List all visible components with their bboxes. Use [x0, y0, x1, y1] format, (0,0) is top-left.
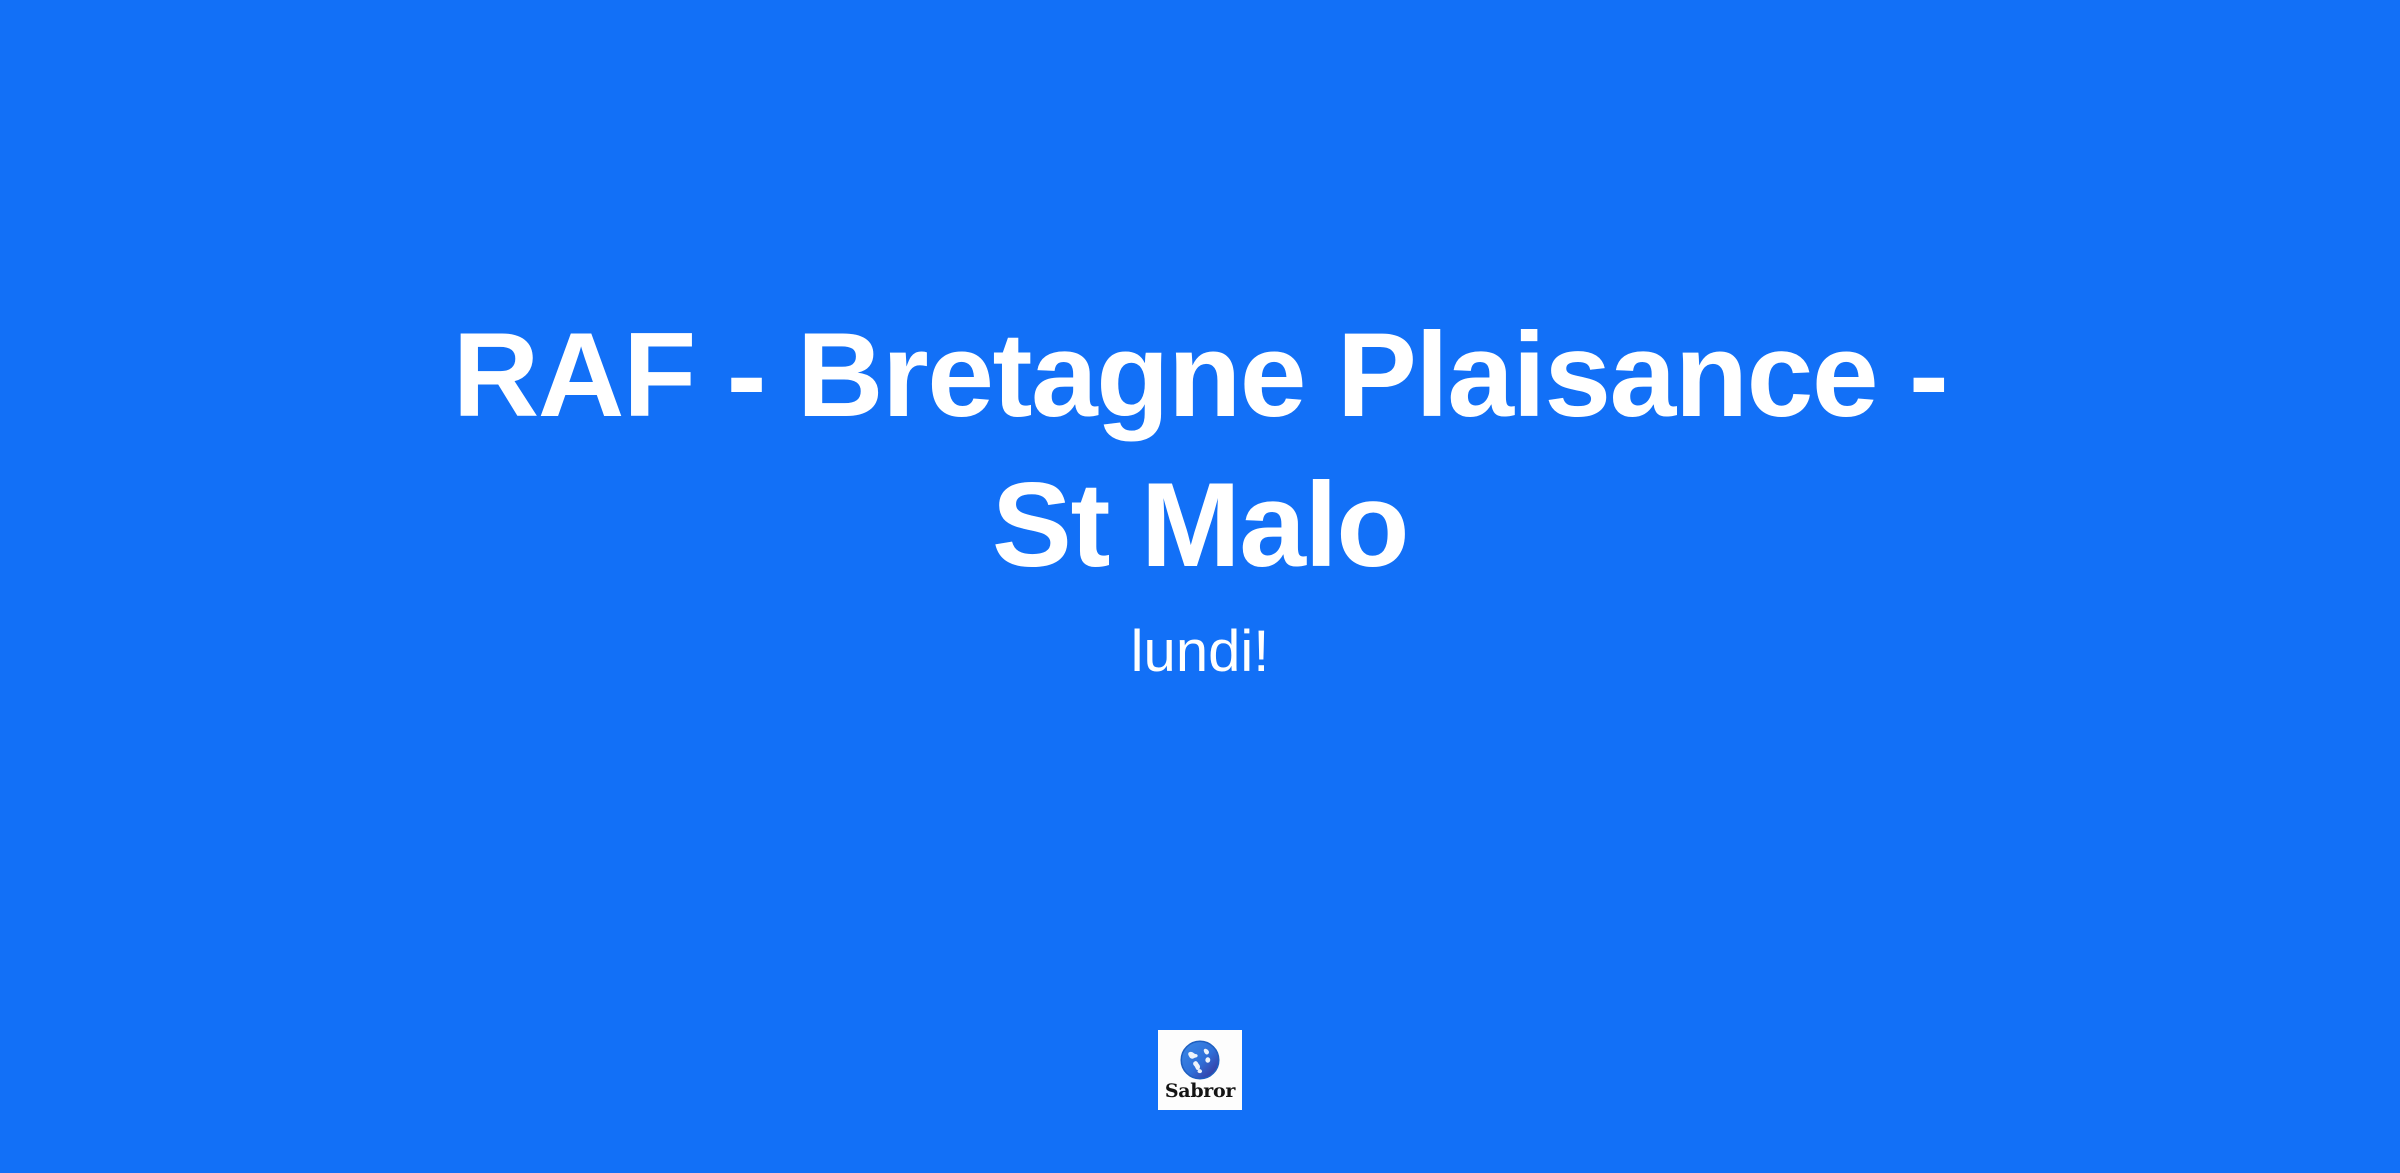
globe-icon	[1180, 1038, 1220, 1080]
hero-text-block: RAF - Bretagne Plaisance - St Malo lundi…	[0, 300, 2400, 686]
brand-logo[interactable]: Sabror	[1158, 1030, 1242, 1110]
page-subtitle: lundi!	[1131, 618, 1270, 686]
page-title: RAF - Bretagne Plaisance - St Malo	[380, 300, 2020, 600]
brand-name-label: Sabror	[1165, 1081, 1235, 1102]
promo-screen: RAF - Bretagne Plaisance - St Malo lundi…	[0, 0, 2400, 1173]
